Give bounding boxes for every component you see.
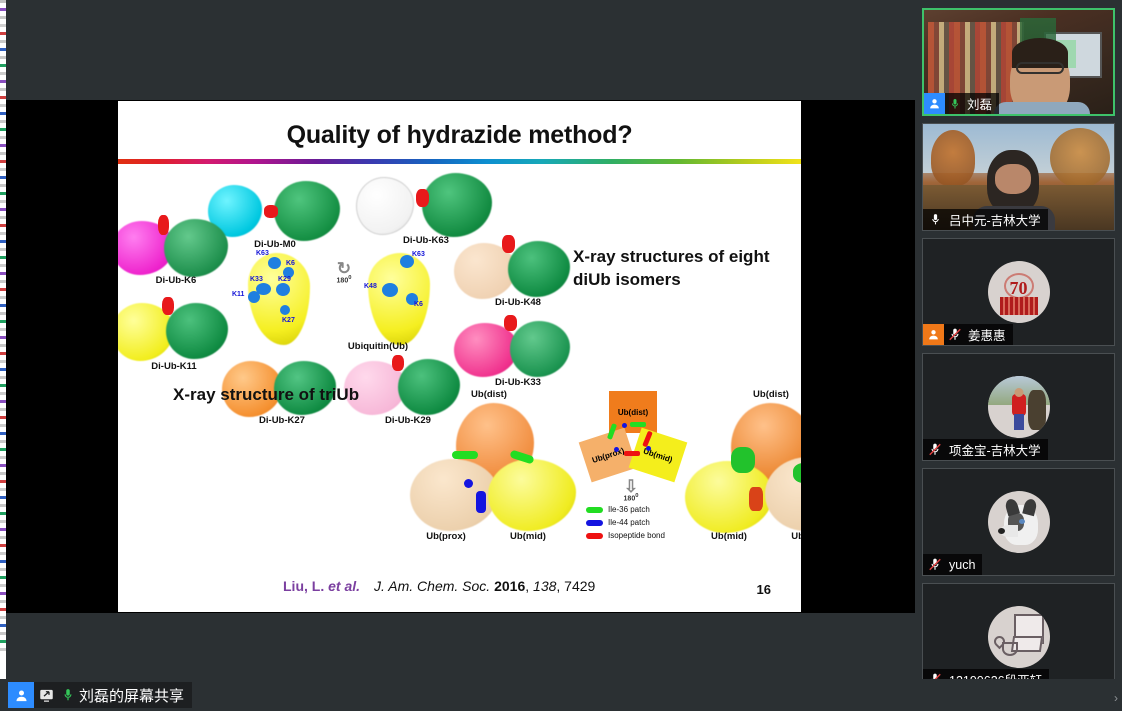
lysine-label-k33: K33 xyxy=(250,276,263,283)
participant-name: 项金宝-吉林大学 xyxy=(947,440,1048,459)
legend-item-ile36: Ile-36 patch xyxy=(586,505,665,514)
participant-sidebar[interactable]: 刘磊 吕中元-吉林大学 70 xyxy=(915,0,1122,679)
legend-label: Ile-36 patch xyxy=(608,505,650,514)
lysine-label-k29: K29 xyxy=(278,276,291,283)
participant-name: yuch xyxy=(947,558,982,572)
molecule-ubiquitin-front: K63 K6 K33 K29 K11 K27 xyxy=(242,249,322,354)
legend-label: Isopeptide bond xyxy=(608,531,665,540)
citation-etal: et al. xyxy=(328,578,360,594)
citation-page: 7429 xyxy=(564,578,595,594)
citation-year: 2016 xyxy=(494,578,525,594)
screen-share-indicator[interactable]: 刘磊的屏幕共享 xyxy=(8,682,192,708)
lysine-label-k63: K63 xyxy=(256,250,269,257)
slide-title: Quality of hydrazide method? xyxy=(118,121,801,150)
rotation-arrow-icon: ↻ xyxy=(329,263,359,275)
slide-page-number: 16 xyxy=(757,582,771,597)
citation-author-name: Liu, L. xyxy=(283,578,328,594)
microphone-muted-icon xyxy=(923,442,947,457)
avatar xyxy=(988,376,1050,438)
molecule-label: Di-Ub-K33 xyxy=(448,377,588,388)
schematic-label-prox: Ub(prox) xyxy=(591,446,625,465)
lysine-label-k6-back: K6 xyxy=(414,301,423,308)
molecule-di-ub-k48: Di-Ub-K48 xyxy=(454,235,586,319)
molecule-label: Di-Ub-K48 xyxy=(448,297,588,308)
legend-item-isopeptide: Isopeptide bond xyxy=(586,531,665,540)
microphone-icon xyxy=(61,687,75,703)
participant-tile-xiangjinbao[interactable]: 项金宝-吉林大学 xyxy=(922,353,1115,461)
triub-label-dist: Ub(dist) xyxy=(701,389,801,400)
participant-namebar: yuch xyxy=(923,554,982,575)
molecule-triub-right: Ub(dist) Ub(mid) Ub(prox) xyxy=(683,391,801,556)
lysine-label-k63-back: K63 xyxy=(412,251,425,258)
molecule-triub-left: Ub(dist) Ub(prox) Ub(mid) xyxy=(406,391,581,556)
schematic-rotation-indicator: ⇩ 1800 xyxy=(616,481,646,502)
screen-share-label: 刘磊的屏幕共享 xyxy=(79,685,184,706)
host-badge-icon xyxy=(924,93,945,114)
rainbow-divider xyxy=(118,159,801,164)
molecule-ubiquitin-back: K63 K48 K6 xyxy=(362,249,442,354)
structure-legend: Ile-36 patch Ile-44 patch Isopeptide bon… xyxy=(586,505,665,544)
citation-volume: 138 xyxy=(533,578,556,594)
avatar xyxy=(988,606,1050,668)
microphone-icon xyxy=(945,97,965,111)
lysine-label-k48-back: K48 xyxy=(364,283,377,290)
rotation-degree-symbol: 0 xyxy=(348,275,351,281)
avatar: 70 xyxy=(988,261,1050,323)
legend-label: Ile-44 patch xyxy=(608,518,650,527)
zoom-meeting-window: Quality of hydrazide method? Di-Ub-M0 Di… xyxy=(0,0,1122,711)
lysine-label-k11: K11 xyxy=(232,291,244,298)
participant-namebar: 刘磊 xyxy=(924,93,999,114)
rotation-arrow-icon: ⇩ xyxy=(616,481,646,493)
molecule-label: Di-Ub-K6 xyxy=(118,275,246,286)
citation-journal: J. Am. Chem. Soc. xyxy=(374,578,490,594)
participant-tile-jianghuihui[interactable]: 70 姜惠惠 xyxy=(922,238,1115,346)
rotation-degree-symbol: 0 xyxy=(635,493,638,499)
participant-namebar: 项金宝-吉林大学 xyxy=(923,439,1048,460)
triub-schematic: Ub(dist) Ub(prox) Ub(mid) ⇩ 1800 xyxy=(584,389,684,519)
rotation-angle: 180 xyxy=(337,277,349,284)
participant-tile-luzhongyuan[interactable]: 吕中元-吉林大学 xyxy=(922,123,1115,231)
headline-diub: X-ray structures of eight diUb isomers xyxy=(573,246,783,292)
legend-swatch-green xyxy=(586,507,603,513)
citation: Liu, L. et al.J. Am. Chem. Soc. 2016, 13… xyxy=(283,578,595,594)
screen-share-icon xyxy=(38,688,55,703)
chevron-right-icon[interactable]: › xyxy=(1114,691,1118,705)
lysine-label-k27: K27 xyxy=(282,317,295,324)
participant-name: 吕中元-吉林大学 xyxy=(947,210,1048,229)
legend-swatch-red xyxy=(586,533,603,539)
headline-triub: X-ray structure of triUb xyxy=(173,385,403,405)
molecule-di-ub-k6: Di-Ub-K6 xyxy=(118,213,242,295)
legend-swatch-blue xyxy=(586,520,603,526)
schematic-label-dist: Ub(dist) xyxy=(618,408,648,417)
citation-authors: Liu, L. et al. xyxy=(283,578,360,594)
participant-namebar: 姜惠惠 xyxy=(923,324,1013,345)
avatar xyxy=(988,491,1050,553)
bottom-toolbar[interactable]: 刘磊的屏幕共享 › xyxy=(0,679,1122,711)
legend-item-ile44: Ile-44 patch xyxy=(586,518,665,527)
molecule-label: Di-Ub-K27 xyxy=(212,415,352,426)
host-badge-icon xyxy=(8,682,34,708)
rotation-angle: 180 xyxy=(624,495,636,502)
shared-screen-stage[interactable]: Quality of hydrazide method? Di-Ub-M0 Di… xyxy=(6,0,915,679)
rotation-indicator: ↻ 1800 xyxy=(329,263,359,284)
participant-name: 刘磊 xyxy=(965,94,999,113)
host-badge-icon xyxy=(923,324,944,345)
triub-label-prox: Ub(prox) xyxy=(741,531,801,542)
participant-tile-liulei[interactable]: 刘磊 xyxy=(922,8,1115,116)
participant-namebar: 吕中元-吉林大学 xyxy=(923,209,1048,230)
ubiquitin-label: Ubiquitin(Ub) xyxy=(308,341,448,352)
participant-tile-yuch[interactable]: yuch xyxy=(922,468,1115,576)
participant-tile-duanyaxuan[interactable]: 12190626段亚轩 xyxy=(922,583,1115,691)
molecule-di-ub-k33: Di-Ub-K33 xyxy=(454,315,586,399)
triub-label-mid: Ub(mid) xyxy=(458,531,598,542)
presentation-slide: Quality of hydrazide method? Di-Ub-M0 Di… xyxy=(118,101,801,612)
microphone-muted-icon xyxy=(944,327,966,342)
microphone-muted-icon xyxy=(923,557,947,572)
triub-label-dist: Ub(dist) xyxy=(419,389,559,400)
lysine-label-k6: K6 xyxy=(286,260,295,267)
participant-name: 姜惠惠 xyxy=(966,325,1013,344)
microphone-icon xyxy=(923,212,947,227)
